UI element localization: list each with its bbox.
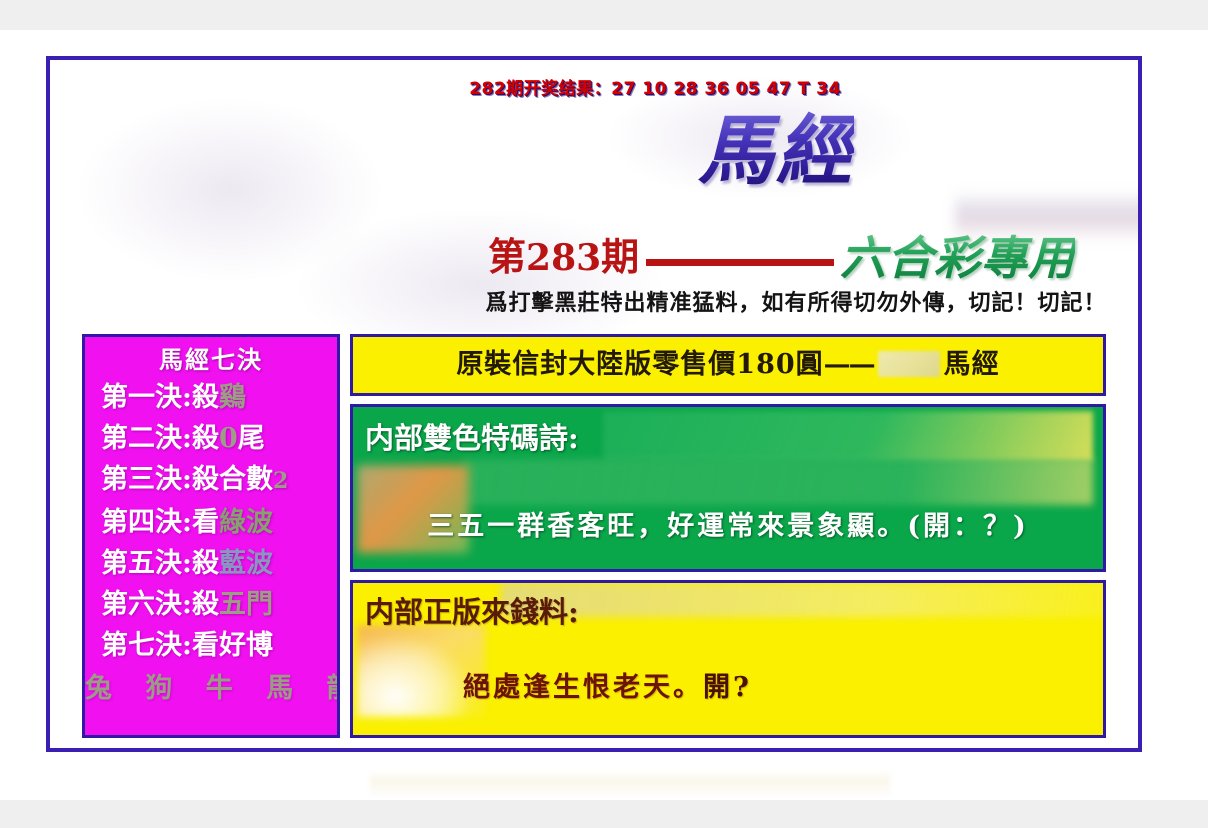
top-edge-strip [0,0,1208,30]
draw-results-line: 282期开奖结果：27 10 28 36 05 47 T 34 [420,74,890,99]
issue-divider-rule [646,259,834,266]
seven-tips-row: 第六決:殺五門 [85,584,337,625]
issue-row: 第283期 六合彩專用 [488,230,1134,288]
tip-highlight: 五 [219,589,246,620]
green-smear [463,459,1093,505]
seven-tips-title: 馬經七決 [85,343,337,377]
tip-highlight: 鷄 [219,382,246,413]
seven-tips-row: 第三決:殺合數2 [85,459,337,502]
tip-label: 第五決:殺 [101,548,219,579]
money-tip-text: 絕處逢生恨老天。開? [463,669,752,707]
issue-number: 283 [526,237,601,279]
seven-tips-row: 第二決:殺0尾 [85,418,337,459]
tip-highlight: 2 [273,468,288,494]
poster-page: 282期开奖结果：27 10 28 36 05 47 T 34 馬經 第283期… [0,0,1208,828]
issue-prefix: 第 [488,234,526,279]
tip-label: 第一決:殺 [101,382,219,413]
tip-tail: 門 [246,589,273,620]
bottom-washed-strip [370,770,890,796]
tip-label: 第六決:殺 [101,589,219,620]
majing-logo: 馬經 [698,108,854,194]
issue-suffix: 期 [601,234,639,279]
tip-label: 第七決:看好博 [101,630,273,661]
money-tip-label: 内部正版來錢料: [365,593,579,631]
masthead: 282期开奖结果：27 10 28 36 05 47 T 34 馬經 第283期… [50,60,1138,332]
price-text: 原裝信封大陸版零售價180圓——馬經 [456,348,999,382]
redaction-block [878,351,940,377]
bottom-edge-strip [0,800,1208,828]
price-text-after: 馬經 [944,349,1000,380]
zodiac-row: 兔 狗 牛 馬 龍 [85,668,337,710]
money-tip-kai: 開? [703,672,752,703]
right-column: 原裝信封大陸版零售價180圓——馬經 内部雙色特碼詩: 三五一群香客旺，好運常來… [350,334,1106,738]
issue-number-label: 第283期 [488,234,639,281]
content-area: 馬經七決 第一決:殺鷄 第二決:殺0尾 第三決:殺合數2 第四決:看綠波 第五決… [82,334,1106,738]
green-smear [603,411,1093,461]
price-bar: 原裝信封大陸版零售價180圓——馬經 [350,334,1106,396]
special-code-poem-text: 三五一群香客旺，好運常來景象顯。(開：？) [353,507,1103,547]
tip-highlight: 藍 [219,548,246,579]
paper-blotch [80,100,380,280]
price-rule: —— [824,349,874,380]
special-code-poem-label: 内部雙色特碼詩: [365,419,579,457]
seven-tips-row: 第七決:看好博 [85,625,337,666]
tip-label: 第三決:殺合數 [101,464,273,495]
price-text-before: 原裝信封大陸版零售價180圓 [456,349,823,380]
tip-label: 第二決:殺 [101,423,219,454]
tip-label: 第四決:看 [101,507,219,538]
money-tip-phrase: 絕處逢生恨老天。 [463,672,703,703]
tip-highlight: 綠 [219,507,246,538]
tip-tail: 尾 [238,423,265,454]
tip-tail: 波 [246,507,273,538]
money-tip-panel: 内部正版來錢料: 絕處逢生恨老天。開? [350,580,1106,738]
seven-tips-row: 第五決:殺藍波 [85,543,337,584]
lottery-type-label: 六合彩專用 [840,230,1075,286]
seven-tips-row: 第四決:看綠波 [85,502,337,543]
tip-tail: 波 [246,548,273,579]
poster-frame: 282期开奖结果：27 10 28 36 05 47 T 34 馬經 第283期… [46,56,1142,752]
yellow-smear [501,583,1106,617]
special-code-poem-panel: 内部雙色特碼詩: 三五一群香客旺，好運常來景象顯。(開：？) [350,404,1106,572]
tip-highlight: 0 [219,423,238,454]
seven-tips-panel: 馬經七決 第一決:殺鷄 第二決:殺0尾 第三決:殺合數2 第四決:看綠波 第五決… [82,334,340,738]
seven-tips-row: 第一決:殺鷄 [85,377,337,418]
tagline-text: 爲打擊黑莊特出精准猛料，如有所得切勿外傳，切記！切記！ [454,288,1138,318]
